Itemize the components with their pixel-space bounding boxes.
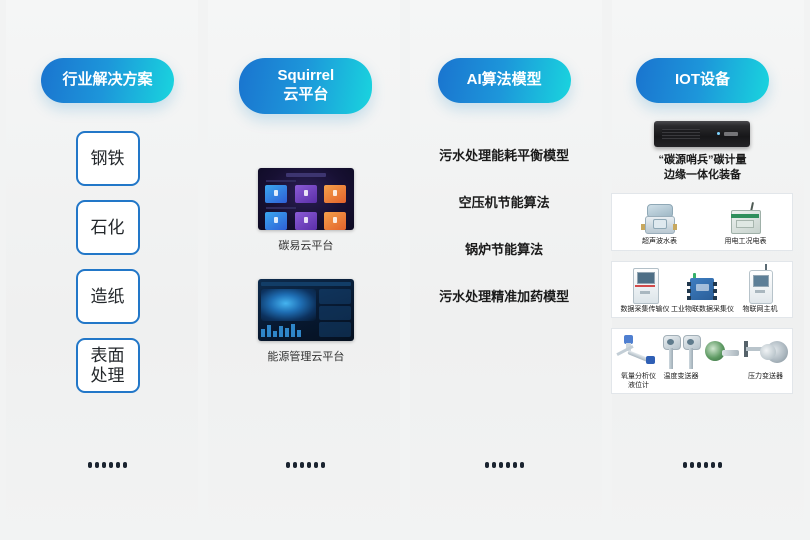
industry-item-surface-treatment[interactable]: 表面 处理 [76, 338, 140, 393]
iot-device-group-meters: 超声波水表 用电工况电表 [611, 193, 793, 251]
dot [95, 462, 99, 468]
dot [286, 462, 290, 468]
dashboard-tile [295, 212, 317, 230]
industry-item-steel[interactable]: 钢铁 [76, 131, 140, 186]
industry-item-label: 钢铁 [91, 149, 125, 169]
dot [697, 462, 701, 468]
iot-hero-caption-line-2: 边缘一体化装备 [664, 169, 741, 181]
oxygen-analyzer-icon [616, 335, 660, 369]
ellipsis-dots-ai-models [485, 462, 524, 468]
bar [297, 330, 301, 337]
column-industry-solutions: 行业解决方案 钢铁 石化 造纸 表面 处理 [10, 0, 205, 540]
cloud-platform-list: 碳易云平台 [258, 168, 354, 364]
device-caption: 数据采集传输仪 [620, 305, 669, 314]
data-panel [319, 322, 351, 337]
device-caption-line-1: 氧量分析仪 [621, 373, 656, 380]
module-label [696, 284, 709, 291]
iot-device-temperature-transmitter[interactable]: 温度变送器 [660, 335, 701, 390]
transmitter-window [687, 339, 694, 345]
module-port [713, 282, 717, 286]
water-meter-icon [644, 204, 674, 234]
host-display [753, 275, 769, 287]
iot-device-gallery: “碳源哨兵”碳计量 边缘一体化装备 [605, 121, 800, 394]
iot-device-iot-host[interactable]: 物联网主机 [731, 268, 788, 314]
industry-list: 钢铁 石化 造纸 表面 处理 [76, 131, 140, 393]
iot-device-group-sensors: 氧量分析仪 液位计 [611, 328, 793, 394]
vent-grille [662, 129, 700, 140]
module-port [713, 296, 717, 300]
data-collector-icon [633, 268, 657, 302]
dot [520, 462, 524, 468]
dot [506, 462, 510, 468]
iot-device-group-collectors: 数据采集传输仪 [611, 261, 793, 318]
dashboard-subtitle [266, 180, 296, 182]
header-pill-label: 行业解决方案 [62, 71, 152, 90]
iot-device-industrial-iot-collector[interactable]: 工业物联数据采集仪 [673, 268, 731, 314]
dot [492, 462, 496, 468]
iot-host-icon [749, 268, 771, 302]
collector-keypad [640, 291, 650, 294]
module-port [687, 296, 691, 300]
device-caption: 物联网主机 [742, 305, 777, 314]
dot [102, 462, 106, 468]
header-pill-ai-models[interactable]: AI算法模型 [438, 58, 571, 103]
dot [321, 462, 325, 468]
industry-item-label-2: 处理 [91, 366, 125, 386]
status-led-icon [717, 132, 720, 135]
flow-sensor-icon [705, 339, 739, 369]
server-badge [724, 132, 738, 136]
module-port [713, 289, 717, 293]
header-pill-label: Squirrel [277, 67, 334, 86]
iot-device-data-acquisition-transmitter[interactable]: 数据采集传输仪 [616, 268, 673, 314]
dashboard-tile [295, 185, 317, 203]
ellipsis-dots-industry [88, 462, 127, 468]
rack-server-icon [654, 121, 750, 147]
map-visualization [261, 289, 316, 321]
bar [285, 328, 289, 337]
dot [711, 462, 715, 468]
solution-architecture-board: 行业解决方案 钢铁 石化 造纸 表面 处理 Squirrel 云平台 [0, 0, 810, 540]
cloud-item-energy-platform[interactable]: 能源管理云平台 [258, 279, 354, 364]
dot [314, 462, 318, 468]
ai-model-item-wastewater-energy-balance[interactable]: 污水处理能耗平衡模型 [439, 145, 569, 164]
device-caption: 温度变送器 [663, 372, 698, 381]
meter-stripe [731, 214, 759, 218]
device-art [705, 335, 739, 369]
dot [293, 462, 297, 468]
bar-chart [261, 323, 316, 337]
dot [88, 462, 92, 468]
ai-model-item-wastewater-dosing[interactable]: 污水处理精准加药模型 [439, 286, 569, 305]
analyzer-tip [646, 356, 655, 364]
dot [307, 462, 311, 468]
temperature-transmitter-icon [661, 335, 681, 369]
dashboard-tile [265, 185, 287, 203]
transmitter-stem [689, 348, 693, 369]
meter-dial [653, 219, 667, 229]
dashboard-tile [265, 212, 287, 230]
dot [499, 462, 503, 468]
device-art [661, 335, 701, 369]
header-pill-label: IOT设备 [675, 71, 730, 90]
data-panel [319, 306, 351, 321]
temperature-transmitter-icon-2 [681, 335, 701, 369]
header-pill-label: AI算法模型 [467, 71, 542, 90]
ellipsis-dots-cloud [286, 462, 325, 468]
industry-item-petrochemical[interactable]: 石化 [76, 200, 140, 255]
dashboard-tile [324, 212, 346, 230]
dot [690, 462, 694, 468]
header-pill-label-2: 云平台 [283, 86, 328, 105]
ai-model-item-air-compressor[interactable]: 空压机节能算法 [459, 192, 550, 211]
cloud-item-carbon-platform[interactable]: 碳易云平台 [258, 168, 354, 253]
dashboard-subtitle [266, 207, 296, 209]
ai-model-item-boiler[interactable]: 锅炉节能算法 [465, 239, 543, 258]
device-art [729, 200, 761, 234]
industry-item-label: 石化 [91, 218, 125, 238]
ellipsis-dots-iot [683, 462, 722, 468]
bar [273, 331, 277, 337]
dashboard-tile-row [262, 212, 350, 230]
iot-device-pressure-transmitter[interactable]: 压力变送器 [742, 335, 788, 390]
iot-hero-caption: “碳源哨兵”碳计量 边缘一体化装备 [658, 153, 746, 183]
dot [123, 462, 127, 468]
energy-dashboard-screenshot [258, 279, 354, 341]
dashboard-body [261, 289, 351, 337]
collector-band [635, 285, 655, 287]
module-port [687, 282, 691, 286]
device-art [686, 268, 718, 302]
device-art [633, 268, 657, 302]
sensor-tail [722, 350, 739, 356]
bar [291, 324, 295, 337]
iot-module-icon [686, 276, 718, 302]
dashboard-tile-row [262, 185, 350, 203]
ai-model-list: 污水处理能耗平衡模型 空压机节能算法 锅炉节能算法 污水处理精准加药模型 [439, 145, 569, 305]
header-pill-cloud-platform[interactable]: Squirrel 云平台 [239, 58, 372, 114]
dot [704, 462, 708, 468]
dot [109, 462, 113, 468]
carbon-dashboard-screenshot [258, 168, 354, 230]
dashboard-titlebar [286, 173, 326, 177]
header-pill-industry-solutions[interactable]: 行业解决方案 [41, 58, 174, 103]
device-art [616, 335, 660, 369]
host-keypad [755, 290, 765, 293]
iot-hero-caption-line-1: “碳源哨兵”碳计量 [658, 154, 746, 166]
device-caption: 氧量分析仪 液位计 [621, 372, 656, 390]
device-caption-line-2: 液位计 [628, 382, 649, 389]
dashboard-left-pane [261, 289, 316, 337]
dot [485, 462, 489, 468]
iot-device-ultrasonic-water-meter[interactable]: 超声波水表 [630, 200, 688, 246]
bar [267, 325, 271, 337]
electric-meter-icon [729, 202, 761, 234]
dot [683, 462, 687, 468]
iot-hero-device[interactable]: “碳源哨兵”碳计量 边缘一体化装备 [654, 121, 750, 183]
cloud-item-caption: 能源管理云平台 [267, 348, 344, 364]
meter-display [736, 220, 754, 228]
collector-display [637, 272, 655, 284]
bar [261, 329, 265, 337]
device-caption: 工业物联数据采集仪 [671, 305, 734, 314]
dot [513, 462, 517, 468]
device-art [742, 335, 788, 369]
dashboard-tile [324, 185, 346, 203]
iot-device-oxygen-analyzer[interactable]: 氧量分析仪 液位计 [616, 335, 660, 390]
industry-item-label: 表面 [91, 346, 125, 366]
dashboard-right-pane [319, 289, 351, 337]
device-caption: 用电工况电表 [724, 237, 766, 246]
device-caption: 压力变送器 [748, 372, 783, 381]
column-iot-devices: IOT设备 “碳源哨兵”碳计量 边缘一体化装备 [605, 0, 800, 540]
dot [718, 462, 722, 468]
iot-device-electric-power-meter[interactable]: 用电工况电表 [716, 200, 774, 246]
industry-item-paper[interactable]: 造纸 [76, 269, 140, 324]
module-port [687, 289, 691, 293]
device-caption: 超声波水表 [642, 237, 677, 246]
meter-flange-left [641, 224, 645, 230]
bar [279, 326, 283, 337]
transmitter-window [667, 339, 674, 345]
column-cloud-platform: Squirrel 云平台 [208, 0, 403, 540]
iot-device-flow-sensor[interactable] [701, 335, 742, 390]
device-art [749, 268, 771, 302]
cloud-item-caption: 碳易云平台 [278, 237, 333, 253]
dot [116, 462, 120, 468]
column-ai-models: AI算法模型 污水处理能耗平衡模型 空压机节能算法 锅炉节能算法 污水处理精准加… [407, 0, 602, 540]
device-art [644, 200, 674, 234]
industry-item-label: 造纸 [91, 287, 125, 307]
dashboard-titlebar [261, 282, 351, 286]
transmitter-stem [669, 348, 673, 369]
meter-flange-right [673, 224, 677, 230]
data-panel [319, 289, 351, 304]
dot [300, 462, 304, 468]
header-pill-iot-devices[interactable]: IOT设备 [636, 58, 769, 103]
pressure-transmitter-icon [742, 337, 788, 369]
